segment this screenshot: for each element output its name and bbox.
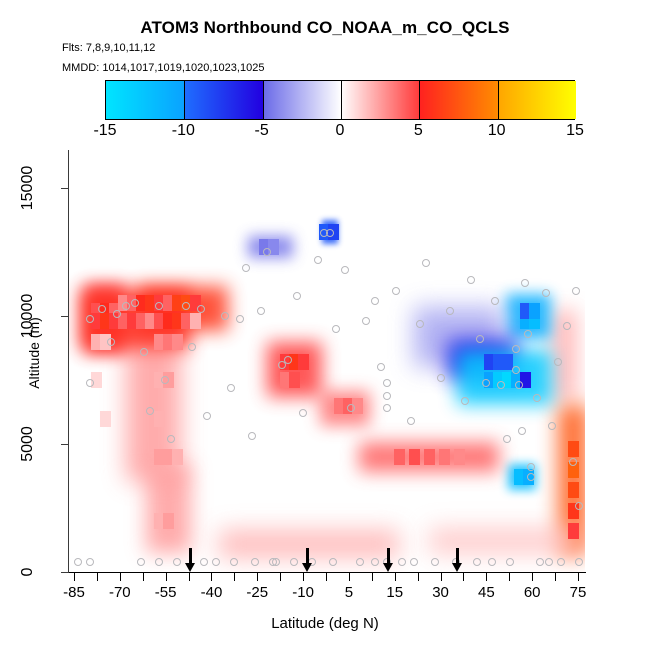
colorbar-segment xyxy=(106,81,184,119)
x-minor-tick xyxy=(189,573,190,581)
data-point-marker xyxy=(407,417,415,425)
data-point-marker xyxy=(431,558,439,566)
colorbar-tick-labels: -15-10-5051015 xyxy=(105,122,575,144)
data-point-marker xyxy=(488,558,496,566)
heatmap-cell xyxy=(502,354,513,370)
data-point-marker xyxy=(284,356,292,364)
x-tick xyxy=(120,573,121,581)
data-point-marker xyxy=(536,558,544,566)
colorbar-tick-separator xyxy=(184,81,185,119)
x-minor-tick xyxy=(509,573,510,581)
data-point-marker xyxy=(86,379,94,387)
data-point-marker xyxy=(575,558,583,566)
data-point-marker xyxy=(200,558,208,566)
data-point-marker xyxy=(155,302,163,310)
x-tick xyxy=(578,573,579,581)
data-point-marker xyxy=(113,310,121,318)
x-tick xyxy=(166,573,167,581)
y-tick-label: 0 xyxy=(19,544,37,600)
data-point-marker xyxy=(572,287,580,295)
data-point-marker xyxy=(167,435,175,443)
data-point-marker xyxy=(503,435,511,443)
x-tick-label: -85 xyxy=(63,584,85,601)
data-point-marker xyxy=(548,422,556,430)
x-tick-label: -40 xyxy=(201,584,223,601)
x-tick xyxy=(349,573,350,581)
data-point-marker xyxy=(122,302,130,310)
data-point-marker xyxy=(416,320,424,328)
heatmap-cell xyxy=(529,303,540,319)
data-point-marker xyxy=(341,266,349,274)
data-point-marker xyxy=(293,292,301,300)
data-point-marker xyxy=(74,558,82,566)
heatmap-cell xyxy=(429,528,579,554)
data-point-marker xyxy=(269,558,277,566)
mmdd-caption: MMDD: 1014,1017,1019,1020,1023,1025 xyxy=(62,62,264,74)
arrow-marker xyxy=(387,548,390,564)
x-minor-tick xyxy=(143,573,144,581)
heatmap-cell xyxy=(394,449,405,465)
y-tick xyxy=(61,188,69,189)
heatmap-field xyxy=(69,150,585,572)
colorbar-tick-separator xyxy=(341,81,342,119)
arrow-head-icon xyxy=(452,563,462,572)
data-point-marker xyxy=(545,558,553,566)
data-point-marker xyxy=(329,558,337,566)
data-point-marker xyxy=(482,379,490,387)
data-point-marker xyxy=(356,558,364,566)
data-point-marker xyxy=(86,315,94,323)
data-point-marker xyxy=(98,305,106,313)
y-tick-label: 15000 xyxy=(19,160,37,216)
data-point-marker xyxy=(398,558,406,566)
colorbar-segment xyxy=(341,81,419,119)
heatmap-cell xyxy=(439,449,450,465)
data-point-marker xyxy=(188,343,196,351)
arrow-head-icon xyxy=(302,563,312,572)
data-point-marker xyxy=(290,558,298,566)
x-tick xyxy=(257,573,258,581)
page-title: ATOM3 Northbound CO_NOAA_m_CO_QCLS xyxy=(0,18,650,38)
data-point-marker xyxy=(491,297,499,305)
data-point-marker xyxy=(155,558,163,566)
heatmap-cell xyxy=(154,411,165,427)
data-point-marker xyxy=(467,276,475,284)
heatmap-cell xyxy=(190,313,201,329)
y-tick xyxy=(61,444,69,445)
x-tick-label: -10 xyxy=(292,584,314,601)
data-point-marker xyxy=(521,279,529,287)
colorbar xyxy=(105,80,575,120)
x-tick-label: 45 xyxy=(478,584,495,601)
heatmap-cell xyxy=(298,354,309,370)
data-point-marker xyxy=(575,502,583,510)
data-point-marker xyxy=(107,338,115,346)
x-minor-tick xyxy=(280,573,281,581)
y-tick-label: 5000 xyxy=(19,416,37,472)
colorbar-tick-label: 10 xyxy=(488,122,506,140)
x-tick xyxy=(395,573,396,581)
data-point-marker xyxy=(146,407,154,415)
colorbar-tick-label: -5 xyxy=(255,122,269,140)
data-point-marker xyxy=(392,287,400,295)
x-tick-label: -70 xyxy=(109,584,131,601)
data-point-marker xyxy=(383,404,391,412)
data-point-marker xyxy=(506,558,514,566)
data-point-marker xyxy=(140,348,148,356)
x-axis-title: Latitude (deg N) xyxy=(0,615,650,632)
data-point-marker xyxy=(137,558,145,566)
y-axis-title: Altitude (m) xyxy=(26,317,42,389)
arrow-marker xyxy=(189,548,192,564)
x-tick-label: 5 xyxy=(345,584,353,601)
data-point-marker xyxy=(569,458,577,466)
data-point-marker xyxy=(473,558,481,566)
data-point-marker xyxy=(197,305,205,313)
data-point-marker xyxy=(257,307,265,315)
arrow-marker xyxy=(456,548,459,564)
x-tick-label: 60 xyxy=(524,584,541,601)
colorbar-segment xyxy=(498,81,576,119)
colorbar-tick-label: 15 xyxy=(566,122,584,140)
data-point-marker xyxy=(227,384,235,392)
x-minor-tick xyxy=(97,573,98,581)
data-point-marker xyxy=(236,315,244,323)
data-point-marker xyxy=(86,558,94,566)
x-tick xyxy=(211,573,212,581)
x-minor-tick xyxy=(418,573,419,581)
data-point-marker xyxy=(182,302,190,310)
data-point-marker xyxy=(248,432,256,440)
x-minor-tick xyxy=(372,573,373,581)
heatmap-cell xyxy=(424,449,435,465)
heatmap-cell xyxy=(454,449,465,465)
colorbar-tick-label: 0 xyxy=(336,122,345,140)
data-point-marker xyxy=(512,366,520,374)
y-tick xyxy=(61,316,69,317)
figure-root: ATOM3 Northbound CO_NOAA_m_CO_QCLS Flts:… xyxy=(0,0,650,650)
colorbar-tick-separator xyxy=(419,81,420,119)
data-point-marker xyxy=(461,397,469,405)
x-tick xyxy=(486,573,487,581)
x-tick xyxy=(441,573,442,581)
data-point-marker xyxy=(518,427,526,435)
heatmap-cell xyxy=(219,530,399,558)
x-minor-tick xyxy=(326,573,327,581)
heatmap-cell xyxy=(100,411,111,427)
data-point-marker xyxy=(314,256,322,264)
data-point-marker xyxy=(362,317,370,325)
data-point-marker xyxy=(383,392,391,400)
x-tick-label: 75 xyxy=(570,584,587,601)
x-tick xyxy=(74,573,75,581)
x-minor-tick xyxy=(555,573,556,581)
data-point-marker xyxy=(410,558,418,566)
x-tick xyxy=(303,573,304,581)
colorbar-segment xyxy=(419,81,497,119)
data-point-marker xyxy=(203,412,211,420)
data-point-marker xyxy=(371,297,379,305)
x-tick-label: 30 xyxy=(432,584,449,601)
colorbar-segment xyxy=(263,81,341,119)
y-tick xyxy=(61,572,69,573)
colorbar-tick-label: 5 xyxy=(414,122,423,140)
heatmap-cell xyxy=(172,449,183,465)
data-point-marker xyxy=(230,558,238,566)
x-tick-label: -55 xyxy=(155,584,177,601)
data-point-marker xyxy=(557,558,565,566)
colorbar-tick-label: -10 xyxy=(172,122,195,140)
data-point-marker xyxy=(377,363,385,371)
arrow-head-icon xyxy=(383,563,393,572)
x-tick xyxy=(532,573,533,581)
data-point-marker xyxy=(422,259,430,267)
data-point-marker xyxy=(371,558,379,566)
data-point-marker xyxy=(437,374,445,382)
data-point-marker xyxy=(251,558,259,566)
arrow-marker xyxy=(306,548,309,564)
heatmap-cell xyxy=(568,523,579,539)
colorbar-gradient xyxy=(105,80,575,120)
x-tick-label: 15 xyxy=(386,584,403,601)
colorbar-segment xyxy=(184,81,262,119)
heatmap-cell xyxy=(409,449,420,465)
data-point-marker xyxy=(332,325,340,333)
data-point-marker xyxy=(212,558,220,566)
heatmap-cell xyxy=(163,513,174,529)
data-point-marker xyxy=(173,558,181,566)
data-point-marker xyxy=(383,379,391,387)
heatmap-cell xyxy=(568,441,579,457)
heatmap-cell xyxy=(568,482,579,498)
flights-caption: Flts: 7,8,9,10,11,12 xyxy=(62,42,155,54)
arrow-head-icon xyxy=(185,563,195,572)
data-point-marker xyxy=(242,264,250,272)
x-minor-tick xyxy=(234,573,235,581)
x-tick-label: -25 xyxy=(246,584,268,601)
x-minor-tick xyxy=(463,573,464,581)
plot-area xyxy=(69,150,585,572)
colorbar-tick-separator xyxy=(498,81,499,119)
colorbar-tick-separator xyxy=(263,81,264,119)
data-point-marker xyxy=(299,409,307,417)
heatmap-cell xyxy=(172,334,183,350)
colorbar-tick-label: -15 xyxy=(93,122,116,140)
heatmap-cell xyxy=(289,372,300,388)
